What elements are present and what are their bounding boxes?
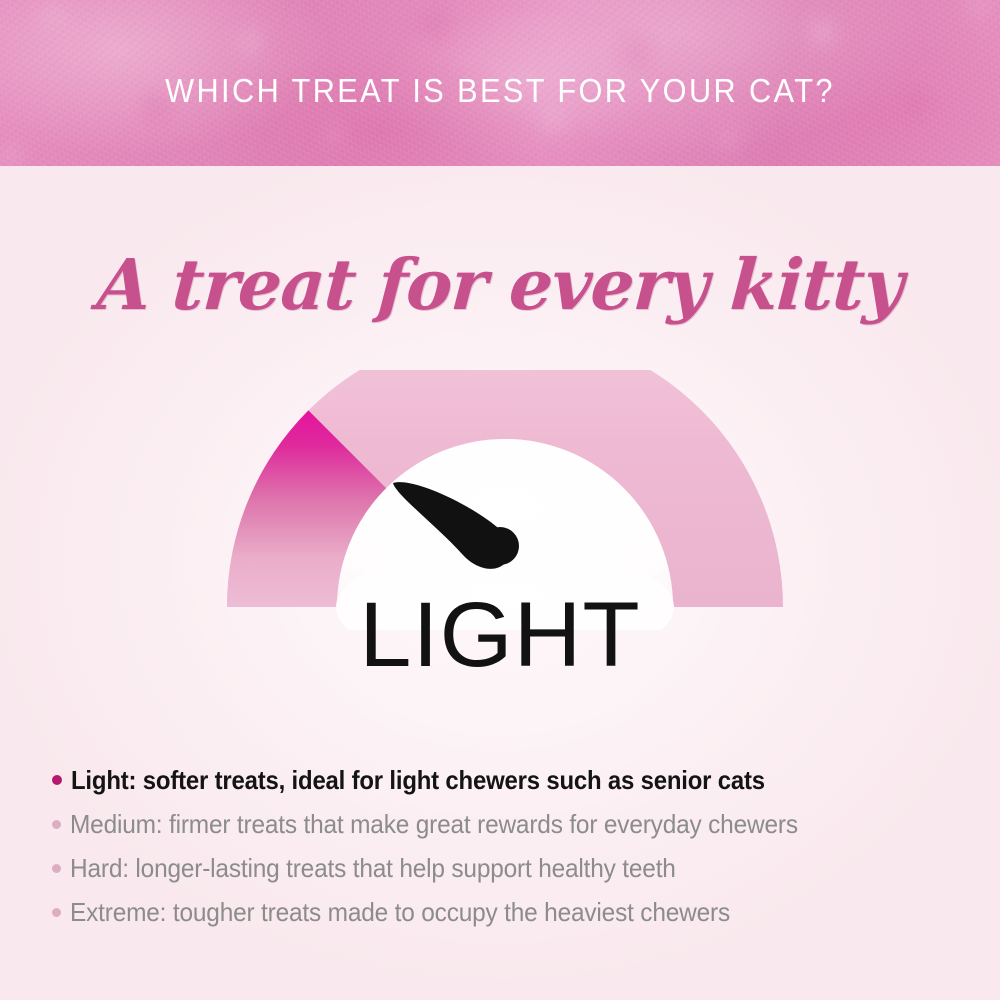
list-item-light[interactable]: Light: softer treats, ideal for light ch… xyxy=(52,758,952,802)
bullet-dot-icon xyxy=(52,775,62,785)
levels-list: Light: softer treats, ideal for light ch… xyxy=(52,758,952,934)
page-title: A treat for every kitty xyxy=(7,237,994,333)
list-item-extreme[interactable]: Extreme: tougher treats made to occupy t… xyxy=(52,890,952,934)
bullet-dot-icon xyxy=(52,908,61,917)
gauge-value-label: LIGHT xyxy=(0,585,1000,685)
list-item-label: Extreme: tougher treats made to occupy t… xyxy=(70,890,730,934)
infographic-page: WHICH TREAT IS BEST FOR YOUR CAT? A trea… xyxy=(0,0,1000,1000)
list-item-label: Hard: longer-lasting treats that help su… xyxy=(70,846,676,890)
list-item-label: Light: softer treats, ideal for light ch… xyxy=(71,758,765,802)
list-item-label: Medium: firmer treats that make great re… xyxy=(70,802,798,846)
bullet-dot-icon xyxy=(52,864,61,873)
bullet-dot-icon xyxy=(52,820,61,829)
list-item-medium[interactable]: Medium: firmer treats that make great re… xyxy=(52,802,952,846)
header-title: WHICH TREAT IS BEST FOR YOUR CAT? xyxy=(35,72,965,110)
list-item-hard[interactable]: Hard: longer-lasting treats that help su… xyxy=(52,846,952,890)
